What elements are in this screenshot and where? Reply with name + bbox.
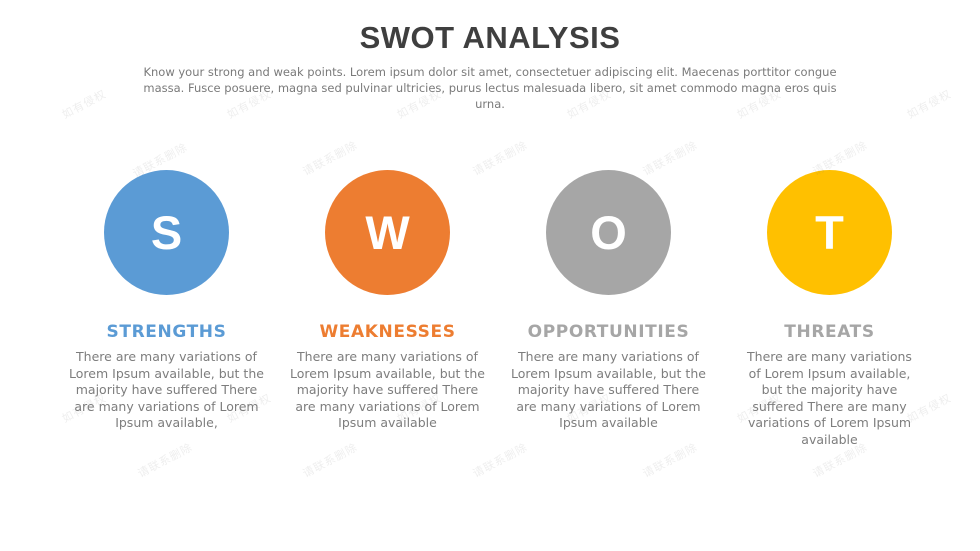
swot-body-weaknesses: There are many variations of Lorem Ipsum… (285, 349, 490, 432)
swot-letter-w: W (365, 205, 409, 260)
page-subtitle: Know your strong and weak points. Lorem … (140, 64, 840, 112)
swot-column-weaknesses[interactable]: W WEAKNESSES There are many variations o… (279, 170, 496, 448)
swot-column-threats[interactable]: T THREATS There are many variations of L… (721, 170, 938, 448)
swot-circle-s: S (104, 170, 229, 295)
swot-letter-t: T (815, 205, 844, 260)
page-title: SWOT ANALYSIS (0, 20, 980, 56)
swot-body-opportunities: There are many variations of Lorem Ipsum… (506, 349, 711, 432)
swot-column-opportunities[interactable]: O OPPORTUNITIES There are many variation… (500, 170, 717, 448)
swot-circle-o: O (546, 170, 671, 295)
watermark-text: 如有侵权 (59, 86, 109, 123)
swot-label-threats: THREATS (784, 322, 874, 342)
swot-body-threats: There are many variations of Lorem Ipsum… (745, 349, 915, 448)
swot-label-strengths: STRENGTHS (107, 322, 227, 342)
swot-circle-w: W (325, 170, 450, 295)
swot-column-strengths[interactable]: S STRENGTHS There are many variations of… (58, 170, 275, 448)
swot-circle-t: T (767, 170, 892, 295)
watermark-text: 如有侵权 (904, 86, 954, 123)
swot-letter-s: S (151, 205, 182, 260)
swot-body-strengths: There are many variations of Lorem Ipsum… (64, 349, 269, 432)
swot-slide: SWOT ANALYSIS Know your strong and weak … (0, 0, 980, 551)
swot-columns: S STRENGTHS There are many variations of… (0, 170, 980, 448)
swot-label-weaknesses: WEAKNESSES (319, 322, 455, 342)
swot-label-opportunities: OPPORTUNITIES (528, 322, 690, 342)
swot-letter-o: O (590, 205, 627, 260)
